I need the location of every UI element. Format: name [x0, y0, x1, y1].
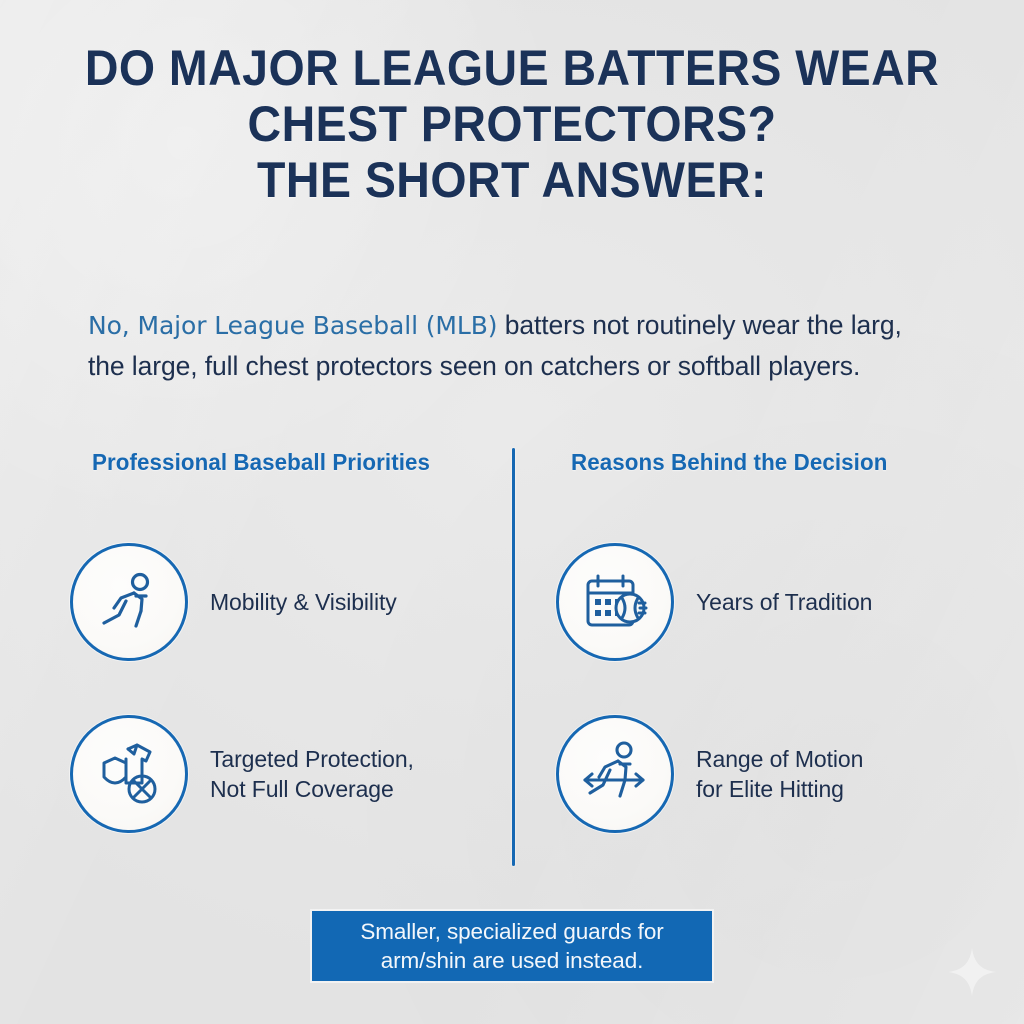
calendar-baseball-icon	[556, 543, 674, 661]
summary-banner-text: Smaller, specialized guards for arm/shin…	[360, 917, 663, 975]
four-point-star-sparkle-icon	[944, 944, 1000, 1000]
title-line-3: THE SHORT ANSWER:	[36, 152, 988, 208]
infographic-canvas: DO MAJOR LEAGUE BATTERS WEAR CHEST PROTE…	[0, 0, 1024, 1024]
running-person-arrows-icon	[556, 715, 674, 833]
column-heading-right: Reasons Behind the Decision	[571, 449, 887, 476]
title-line-2: CHEST PROTECTORS?	[36, 96, 988, 152]
running-person-icon	[70, 543, 188, 661]
intro-paragraph: No, Major League Baseball (MLB) batters …	[88, 305, 928, 386]
title-line-1: DO MAJOR LEAGUE BATTERS WEAR	[36, 40, 988, 96]
list-item-label: Years of Tradition	[696, 587, 872, 617]
list-item: Years of Tradition	[556, 543, 872, 661]
page-title: DO MAJOR LEAGUE BATTERS WEAR CHEST PROTE…	[0, 40, 1024, 208]
list-item-label: Range of Motion for Elite Hitting	[696, 744, 863, 804]
summary-banner: Smaller, specialized guards for arm/shin…	[312, 911, 712, 981]
list-item: Range of Motion for Elite Hitting	[556, 715, 863, 833]
list-item: Mobility & Visibility	[70, 543, 397, 661]
column-heading-left: Professional Baseball Priorities	[92, 449, 430, 476]
intro-lead: No, Major League Baseball (MLB)	[88, 311, 497, 340]
list-item: Targeted Protection, Not Full Coverage	[70, 715, 414, 833]
list-item-label: Mobility & Visibility	[210, 587, 397, 617]
list-item-label: Targeted Protection, Not Full Coverage	[210, 744, 414, 804]
column-divider	[512, 448, 515, 866]
shield-shirt-no-coverage-icon	[70, 715, 188, 833]
